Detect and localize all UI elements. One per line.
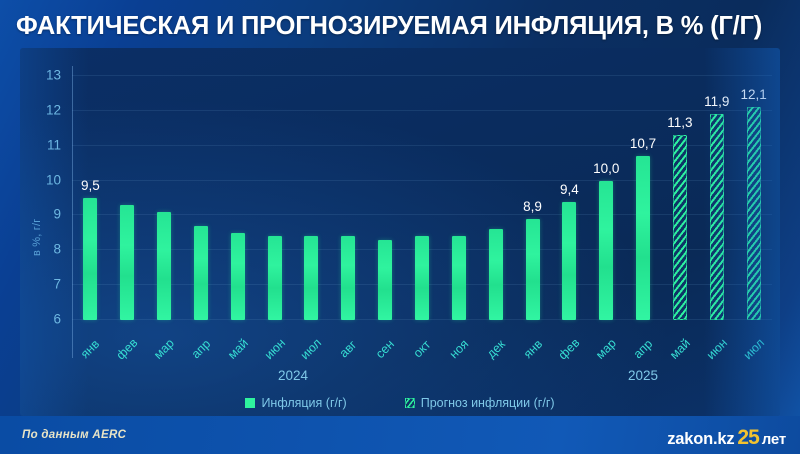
- inflation-bar[interactable]: [378, 240, 392, 320]
- x-axis-tick-label: апр: [189, 337, 214, 362]
- plot-area: 6789101112139,5янвфевмарапрмайиюниюлавгс…: [72, 58, 772, 358]
- bar-group[interactable]: апр: [183, 58, 219, 358]
- inflation-bar[interactable]: [304, 236, 318, 320]
- bar-group[interactable]: сен: [367, 58, 403, 358]
- bar-group[interactable]: май: [220, 58, 256, 358]
- bar-group[interactable]: 9,4фев: [551, 58, 587, 358]
- x-axis-tick-label: мар: [151, 336, 177, 362]
- year-caption: 2024: [278, 368, 308, 383]
- x-axis-tick-label: авг: [337, 338, 360, 361]
- inflation-bar[interactable]: [636, 156, 650, 320]
- bar-value-label: 10,7: [630, 136, 656, 151]
- bar-value-label: 10,0: [593, 161, 619, 176]
- y-axis-label: в %, г/г: [31, 219, 43, 256]
- inflation-bar[interactable]: [268, 236, 282, 320]
- bar-group[interactable]: мар: [146, 58, 182, 358]
- y-axis-tick-label: 8: [53, 242, 61, 257]
- x-axis-tick-label: янв: [78, 337, 102, 361]
- inflation-bar[interactable]: [526, 219, 540, 320]
- x-axis-tick-label: июл: [740, 336, 766, 362]
- x-axis-tick-label: фев: [114, 336, 141, 363]
- inflation-bar[interactable]: [452, 236, 466, 320]
- page-title: ФАКТИЧЕСКАЯ И ПРОГНОЗИРУЕМАЯ ИНФЛЯЦИЯ, В…: [16, 12, 762, 41]
- legend-label: Прогноз инфляции (г/г): [421, 396, 555, 410]
- logo-brand: zakon.kz: [667, 430, 734, 449]
- x-axis-tick-label: ноя: [447, 337, 471, 361]
- x-axis-tick-label: июн: [261, 336, 287, 362]
- x-axis-tick-label: мар: [593, 336, 619, 362]
- bar-value-label: 9,5: [81, 178, 100, 193]
- bar-group[interactable]: 12,1июл: [736, 58, 772, 358]
- inflation-bar[interactable]: [489, 229, 503, 320]
- bar-group[interactable]: июл: [293, 58, 329, 358]
- inflation-bar[interactable]: [83, 198, 97, 320]
- y-axis-tick-label: 6: [53, 312, 61, 327]
- legend-item[interactable]: Прогноз инфляции (г/г): [405, 396, 555, 410]
- x-axis-tick-label: май: [225, 336, 251, 362]
- forecast-bar[interactable]: [673, 135, 687, 320]
- bar-group[interactable]: 10,0мар: [588, 58, 624, 358]
- logo-anniversary-number: 25: [737, 426, 758, 450]
- bar-group[interactable]: окт: [404, 58, 440, 358]
- y-axis-tick-label: 10: [46, 172, 61, 187]
- inflation-bar[interactable]: [599, 181, 613, 320]
- bar-group[interactable]: 10,7апр: [625, 58, 661, 358]
- x-axis-tick-label: июн: [704, 336, 730, 362]
- x-axis-tick-label: сен: [373, 337, 397, 361]
- inflation-bar[interactable]: [231, 233, 245, 320]
- inflation-bar[interactable]: [415, 236, 429, 320]
- y-axis-tick-label: 12: [46, 102, 61, 117]
- bar-group[interactable]: 8,9янв: [515, 58, 551, 358]
- legend-label: Инфляция (г/г): [261, 396, 346, 410]
- inflation-bar[interactable]: [157, 212, 171, 320]
- y-axis-tick-label: 11: [47, 137, 61, 152]
- x-axis-tick-label: янв: [520, 337, 544, 361]
- bar-group[interactable]: фев: [109, 58, 145, 358]
- bar-group[interactable]: 9,5янв: [72, 58, 108, 358]
- bar-value-label: 9,4: [560, 182, 579, 197]
- bar-group[interactable]: 11,3май: [662, 58, 698, 358]
- inflation-bar[interactable]: [562, 202, 576, 321]
- forecast-bar[interactable]: [747, 107, 761, 320]
- chart-panel: в %, г/г 6789101112139,5янвфевмарапрмайи…: [20, 48, 780, 416]
- bar-value-label: 11,9: [704, 94, 729, 109]
- x-axis-tick-label: дек: [484, 337, 508, 361]
- y-axis-tick-label: 9: [53, 207, 61, 222]
- legend-item[interactable]: Инфляция (г/г): [245, 396, 346, 410]
- x-axis-tick-label: май: [667, 336, 693, 362]
- y-axis-tick-label: 7: [53, 277, 61, 292]
- footer-bar: По данным AERC zakon.kz 25 лет: [0, 416, 800, 454]
- bar-value-label: 11,3: [667, 115, 692, 130]
- bar-group[interactable]: ноя: [441, 58, 477, 358]
- bar-group[interactable]: дек: [478, 58, 514, 358]
- inflation-bar[interactable]: [194, 226, 208, 320]
- bar-value-label: 8,9: [523, 199, 542, 214]
- source-credit: По данным AERC: [22, 429, 126, 441]
- forecast-bar[interactable]: [710, 114, 724, 320]
- chart-legend: Инфляция (г/г)Прогноз инфляции (г/г): [20, 396, 780, 410]
- logo-anniversary-suffix: лет: [762, 431, 786, 448]
- x-axis-tick-label: окт: [411, 338, 434, 361]
- inflation-bar[interactable]: [341, 236, 355, 320]
- vertical-gridline: [72, 66, 73, 358]
- inflation-bar[interactable]: [120, 205, 134, 320]
- bar-group[interactable]: 11,9июн: [699, 58, 735, 358]
- bar-value-label: 12,1: [740, 87, 766, 102]
- x-axis-tick-label: фев: [556, 336, 583, 363]
- legend-swatch-actual-icon: [245, 398, 255, 408]
- x-axis-tick-label: апр: [631, 337, 656, 362]
- x-axis-tick-label: июл: [298, 336, 324, 362]
- bar-group[interactable]: июн: [257, 58, 293, 358]
- bar-group[interactable]: авг: [330, 58, 366, 358]
- year-caption: 2025: [628, 368, 658, 383]
- zakon-kz-logo[interactable]: zakon.kz 25 лет: [667, 426, 786, 450]
- legend-swatch-forecast-icon: [405, 398, 415, 408]
- y-axis-tick-label: 13: [46, 68, 61, 83]
